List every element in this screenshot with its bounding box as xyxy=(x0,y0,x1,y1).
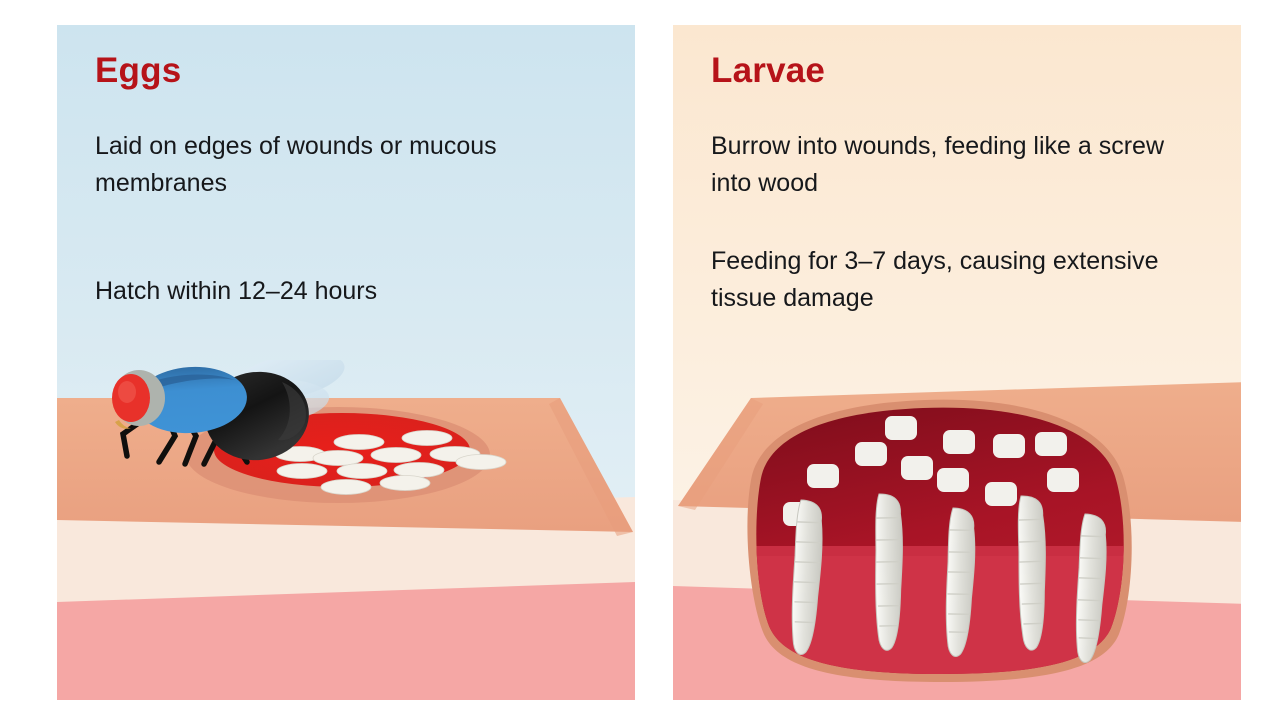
egg xyxy=(380,476,430,491)
egg xyxy=(337,464,387,479)
eggs-illustration-svg xyxy=(57,360,635,700)
panel-eggs: Eggs Laid on edges of wounds or mucous m… xyxy=(57,25,635,700)
eggs-illustration xyxy=(57,360,635,700)
larvae-illustration xyxy=(673,360,1241,700)
larva-capsule xyxy=(1047,468,1079,492)
infographic-stage: Eggs Laid on edges of wounds or mucous m… xyxy=(0,0,1280,720)
egg xyxy=(321,480,371,495)
larvae-illustration-svg xyxy=(673,360,1241,700)
larva-capsule xyxy=(993,434,1025,458)
egg xyxy=(277,464,327,479)
panel-larvae-heading: Larvae xyxy=(711,53,825,88)
panel-eggs-heading: Eggs xyxy=(95,53,181,88)
larva-capsule xyxy=(885,416,917,440)
panel-larvae: Larvae Burrow into wounds, feeding like … xyxy=(673,25,1241,700)
egg xyxy=(371,448,421,463)
larva-capsule xyxy=(901,456,933,480)
larva-capsule xyxy=(807,464,839,488)
larva-capsule xyxy=(943,430,975,454)
larva-capsule xyxy=(855,442,887,466)
egg xyxy=(334,435,384,450)
egg xyxy=(313,451,363,466)
larva-capsule xyxy=(1035,432,1067,456)
larva-capsule xyxy=(937,468,969,492)
panel-eggs-paragraph-1: Laid on edges of wounds or mucous membra… xyxy=(95,128,565,202)
panel-eggs-paragraph-2: Hatch within 12–24 hours xyxy=(95,273,565,310)
egg xyxy=(456,455,506,470)
panel-larvae-paragraph-2: Feeding for 3–7 days, causing extensive … xyxy=(711,243,1181,317)
panel-larvae-paragraph-1: Burrow into wounds, feeding like a screw… xyxy=(711,128,1181,202)
larva-capsule xyxy=(985,482,1017,506)
egg xyxy=(402,431,452,446)
